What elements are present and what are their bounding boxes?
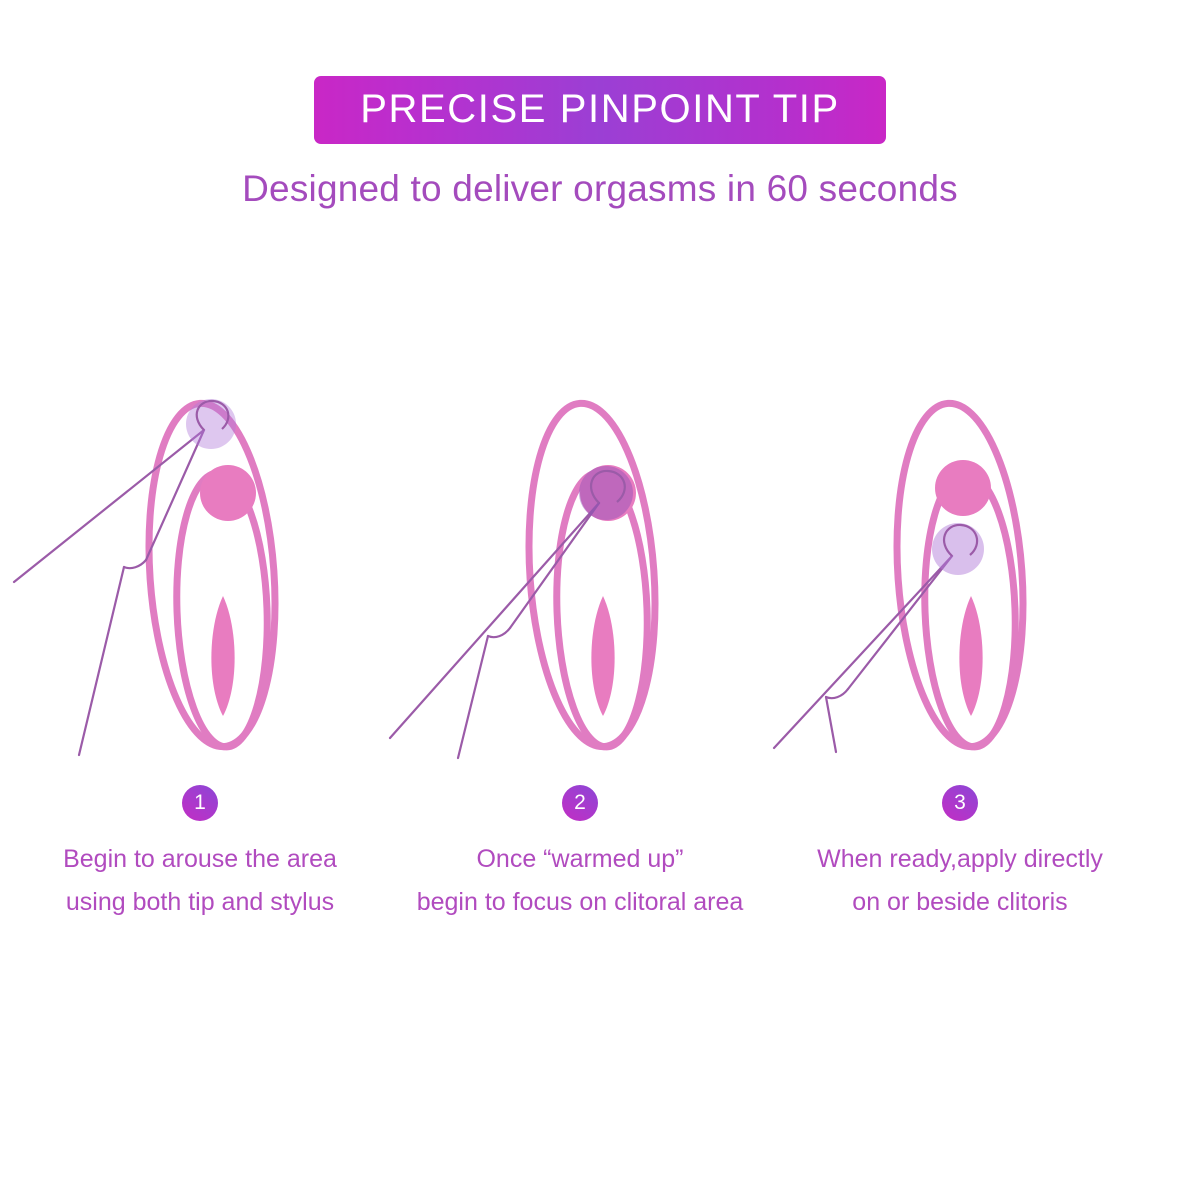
step-caption-3: When ready,apply directly on or beside c… <box>760 838 1160 924</box>
caption-line-1: When ready,apply directly <box>760 838 1160 881</box>
leaf-shape-icon <box>591 596 614 716</box>
page-subtitle: Designed to deliver orgasms in 60 second… <box>0 168 1200 210</box>
banner-title: PRECISE PINPOINT TIP <box>314 76 886 144</box>
anatomy-diagram-3 <box>760 360 1160 800</box>
step-caption-1: Begin to arouse the area using both tip … <box>0 838 400 924</box>
caption-line-2: using both tip and stylus <box>0 881 400 924</box>
caption-line-2: begin to focus on clitoral area <box>380 881 780 924</box>
step-caption-2: Once “warmed up” begin to focus on clito… <box>380 838 780 924</box>
step-badge-1: 1 <box>182 785 218 821</box>
leaf-shape-icon <box>959 596 982 716</box>
pinpoint-tip-icon <box>186 399 236 449</box>
banner-container: PRECISE PINPOINT TIP <box>0 76 1200 144</box>
clitoral-circle-icon <box>935 460 991 516</box>
step-panel-2: 2 Once “warmed up” begin to focus on cli… <box>380 360 780 960</box>
step-badge-3: 3 <box>942 785 978 821</box>
step-panel-3: 3 When ready,apply directly on or beside… <box>760 360 1160 960</box>
step-panel-1: 1 Begin to arouse the area using both ti… <box>0 360 400 960</box>
leaf-shape-icon <box>211 596 234 716</box>
anatomy-diagram-2 <box>380 360 780 800</box>
caption-line-1: Once “warmed up” <box>380 838 780 881</box>
anatomy-diagram-1 <box>0 360 400 800</box>
caption-line-1: Begin to arouse the area <box>0 838 400 881</box>
steps-container: 1 Begin to arouse the area using both ti… <box>0 360 1200 960</box>
infographic-page: PRECISE PINPOINT TIP Designed to deliver… <box>0 0 1200 1200</box>
step-badge-2: 2 <box>562 785 598 821</box>
clitoral-circle-icon <box>200 465 256 521</box>
caption-line-2: on or beside clitoris <box>760 881 1160 924</box>
